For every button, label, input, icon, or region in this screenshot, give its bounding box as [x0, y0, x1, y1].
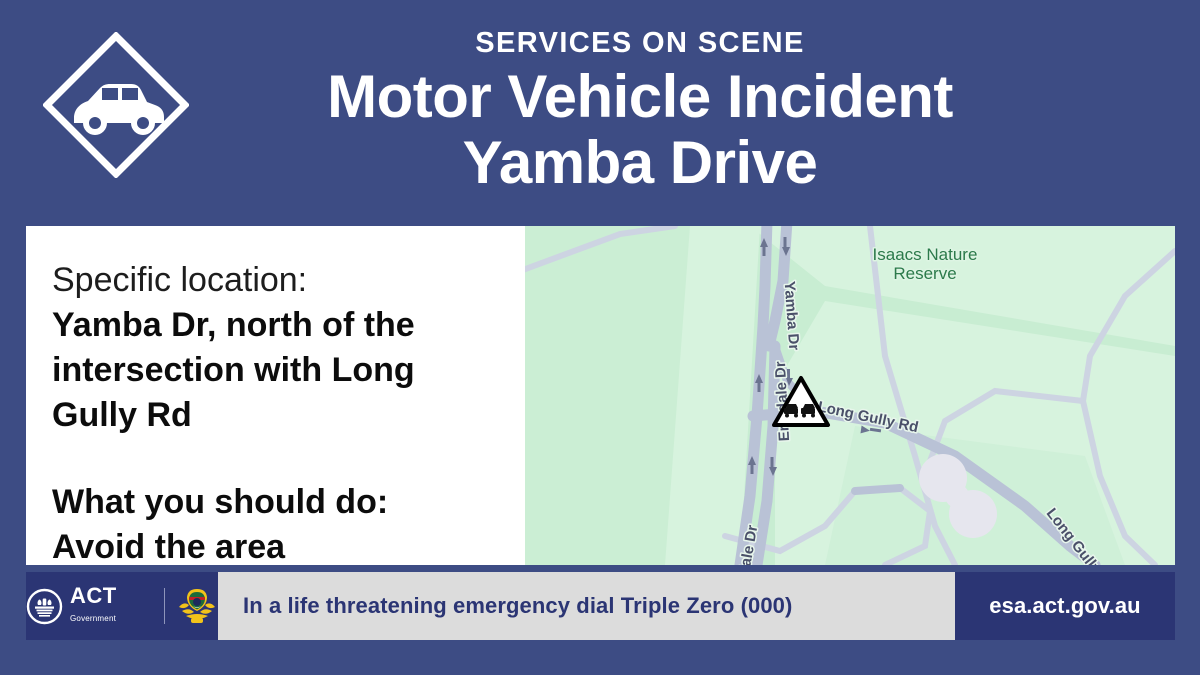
act-wordmark: ACT Government — [70, 586, 153, 626]
location-label: Specific location: — [52, 258, 499, 303]
title-line-1: Motor Vehicle Incident — [200, 64, 1080, 130]
emergency-message: In a life threatening emergency dial Tri… — [243, 593, 792, 619]
act-word: ACT — [70, 583, 117, 608]
act-coat-of-arms-icon — [26, 588, 63, 625]
kicker-text: SERVICES ON SCENE — [200, 22, 1080, 64]
info-panel: Specific location: Yamba Dr, north of th… — [26, 226, 525, 565]
logo-block: ACT Government — [26, 572, 218, 640]
incident-map[interactable]: Isaacs Nature Reserve Yamba Dr Erindale … — [525, 226, 1175, 565]
action-value: Avoid the area — [52, 525, 499, 570]
title-line-2: Yamba Drive — [200, 130, 1080, 196]
emergency-message-band: In a life threatening emergency dial Tri… — [218, 572, 955, 640]
content-area: Specific location: Yamba Dr, north of th… — [26, 226, 1175, 565]
park-label-line-2: Reserve — [893, 264, 956, 283]
footer-bar: ACT Government — [26, 572, 1175, 640]
website-url: esa.act.gov.au — [989, 593, 1140, 619]
logo-divider — [164, 588, 165, 624]
spacer — [52, 438, 499, 480]
esa-emblem-icon — [176, 586, 218, 626]
header-banner: SERVICES ON SCENE Motor Vehicle Incident… — [0, 0, 1200, 226]
location-value: Yamba Dr, north of the intersection with… — [52, 303, 499, 438]
park-label-line-1: Isaacs Nature — [873, 245, 978, 264]
act-subtext: Government — [70, 614, 116, 623]
action-label: What you should do: — [52, 480, 499, 525]
act-government-logo: ACT Government — [26, 586, 153, 626]
page-title: SERVICES ON SCENE Motor Vehicle Incident… — [200, 22, 1080, 196]
website-url-block[interactable]: esa.act.gov.au — [955, 572, 1175, 640]
car-diamond-icon — [43, 32, 189, 178]
